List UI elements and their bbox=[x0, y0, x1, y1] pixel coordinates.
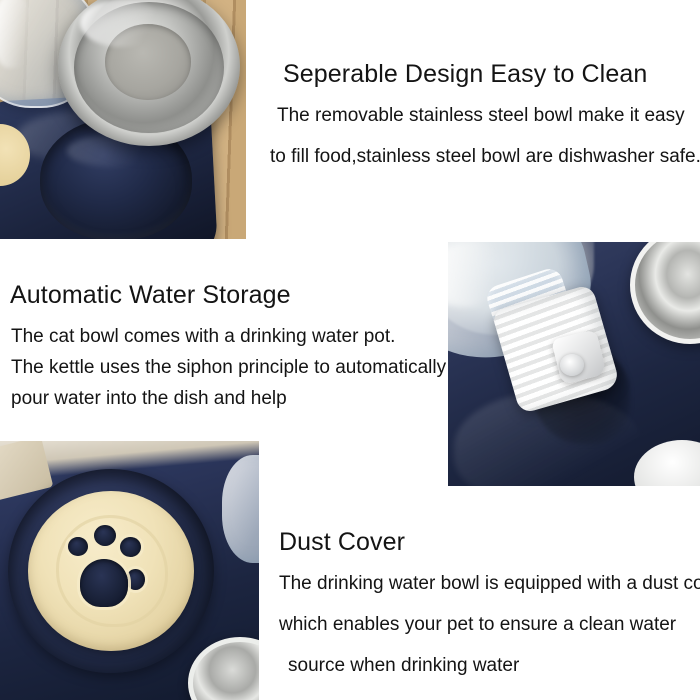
feature-body-line-separable-2: to fill food,stainless steel bowl are di… bbox=[270, 147, 700, 166]
paw-main-pad bbox=[80, 559, 128, 607]
feature-block-dust-cover: Dust Cover The drinking water bowl is eq… bbox=[279, 528, 700, 675]
feature-block-automatic-water-storage: Automatic Water Storage The cat bowl com… bbox=[10, 281, 446, 408]
feature-heading-separable-design: Seperable Design Easy to Clean bbox=[283, 60, 700, 89]
feature-body-line-separable-1: The removable stainless steel bowl make … bbox=[277, 106, 700, 125]
paw-print-dust-cover-photo bbox=[0, 441, 259, 700]
steel-bowl-highlight bbox=[80, 0, 164, 47]
white-valve-cap-closeup-photo bbox=[448, 242, 700, 486]
feature-block-separable-design: Seperable Design Easy to Clean The remov… bbox=[283, 60, 700, 166]
paw-print-opening bbox=[64, 523, 160, 619]
paw-toe-4 bbox=[126, 569, 145, 590]
infographic-page: Seperable Design Easy to Clean The remov… bbox=[0, 0, 700, 700]
feature-heading-dust-cover: Dust Cover bbox=[279, 528, 700, 557]
paw-toe-2 bbox=[94, 525, 116, 546]
feature-body-line-water-1: The cat bowl comes with a drinking water… bbox=[11, 327, 446, 346]
paw-toe-3 bbox=[120, 537, 141, 557]
feature-body-line-water-3: pour water into the dish and help bbox=[11, 389, 446, 408]
feature-body-line-water-2: The kettle uses the siphon principle to … bbox=[11, 358, 446, 377]
feature-body-line-dust-2: which enables your pet to ensure a clean… bbox=[279, 615, 700, 634]
steel-bowl-lifted-from-navy-base-photo bbox=[0, 0, 246, 239]
feature-body-line-dust-3: source when drinking water bbox=[288, 656, 700, 675]
valve-release-pin bbox=[560, 354, 584, 376]
paw-toe-1 bbox=[68, 537, 88, 556]
feature-body-line-dust-1: The drinking water bowl is equipped with… bbox=[279, 574, 700, 593]
feature-heading-automatic-water-storage: Automatic Water Storage bbox=[10, 281, 446, 310]
